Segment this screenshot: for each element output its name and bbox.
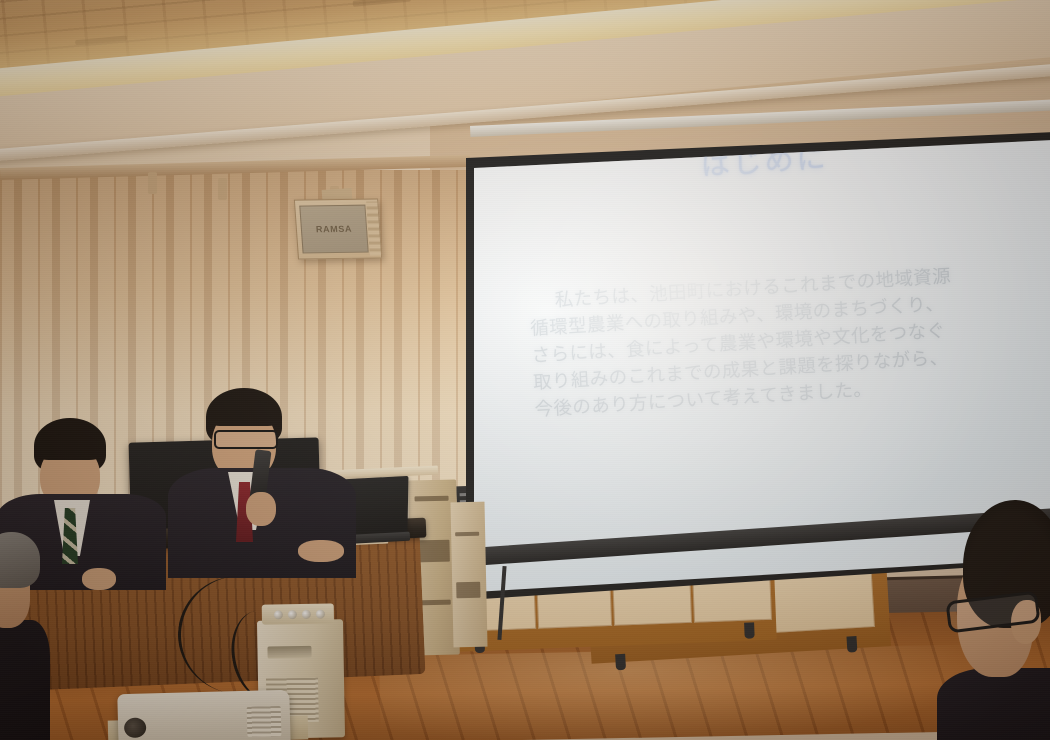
curtain-hook (218, 178, 227, 200)
jacket (0, 620, 50, 740)
pa-handle-slot (267, 646, 311, 659)
hand-on-podium (298, 540, 344, 562)
hair-fringe (36, 434, 102, 460)
pa-control-panel[interactable] (262, 603, 334, 624)
jacket (937, 668, 1050, 740)
cabinet-caster (846, 636, 857, 653)
hand-holding-mic (246, 492, 276, 526)
volume-knob[interactable] (302, 610, 311, 619)
projector-vent (247, 706, 282, 737)
foreground-audience-member (955, 500, 1050, 740)
slide-body-text: 私たちは、池田町におけるこれまでの地域資源 循環型農業への取り組みや、環境のまち… (528, 258, 1044, 424)
speaking-presenter (176, 388, 356, 578)
cabinet-caster (744, 622, 755, 638)
cabinet-caster (615, 654, 626, 671)
speaker-side-fins (366, 201, 381, 255)
hand (82, 568, 116, 590)
hair-fringe (208, 400, 280, 426)
gray-hair (0, 532, 40, 588)
volume-knob[interactable] (316, 610, 325, 619)
floor-reflection (379, 644, 1001, 740)
edge-audience-member (0, 532, 48, 740)
speaker-grille: RAMSA (299, 205, 368, 254)
projector-lens (124, 718, 147, 739)
volume-knob[interactable] (274, 610, 283, 619)
ceiling-speaker: RAMSA (294, 198, 382, 259)
volume-knob[interactable] (288, 610, 297, 619)
floor-projector (117, 690, 290, 740)
curtain-hook (148, 172, 157, 194)
photo-scene: RAMSA はじめに (0, 0, 1050, 740)
eyeglasses (214, 430, 278, 449)
equipment-rack-secondary (450, 502, 487, 648)
speaker-brand-label: RAMSA (302, 224, 367, 235)
